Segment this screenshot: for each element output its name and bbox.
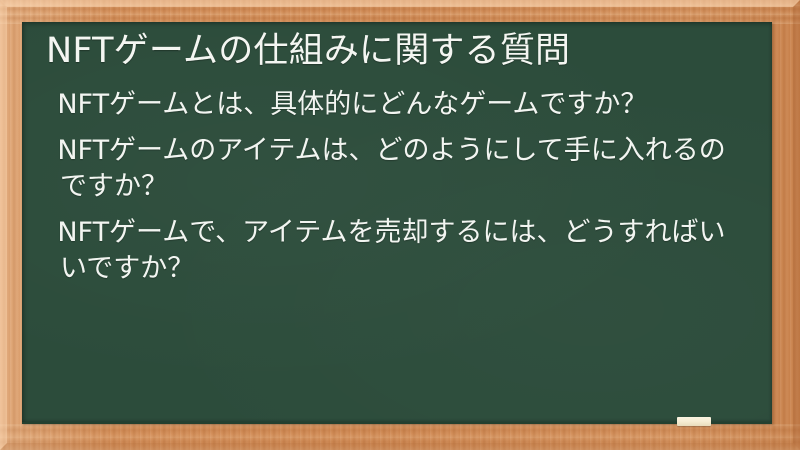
- question-item: NFTゲームのアイテムは、どのようにして手に入れるのですか？: [60, 133, 752, 205]
- blackboard-frame: NFTゲームの仕組みに関する質問 NFTゲームとは、具体的にどんなゲームですか？…: [0, 0, 800, 450]
- chalk-stick: [677, 417, 711, 426]
- board-content: NFTゲームの仕組みに関する質問 NFTゲームとは、具体的にどんなゲームですか？…: [22, 22, 772, 424]
- frame-top-rail: [0, 0, 800, 24]
- question-item: NFTゲームとは、具体的にどんなゲームですか？: [60, 87, 752, 123]
- question-list: NFTゲームとは、具体的にどんなゲームですか？ NFTゲームのアイテムは、どのよ…: [34, 87, 756, 288]
- board-title: NFTゲームの仕組みに関する質問: [34, 30, 756, 73]
- question-item: NFTゲームで、アイテムを売却するには、どうすればいいですか？: [60, 215, 752, 287]
- frame-bottom-ledge: [0, 424, 800, 450]
- chalkboard-surface: NFTゲームの仕組みに関する質問 NFTゲームとは、具体的にどんなゲームですか？…: [22, 22, 772, 424]
